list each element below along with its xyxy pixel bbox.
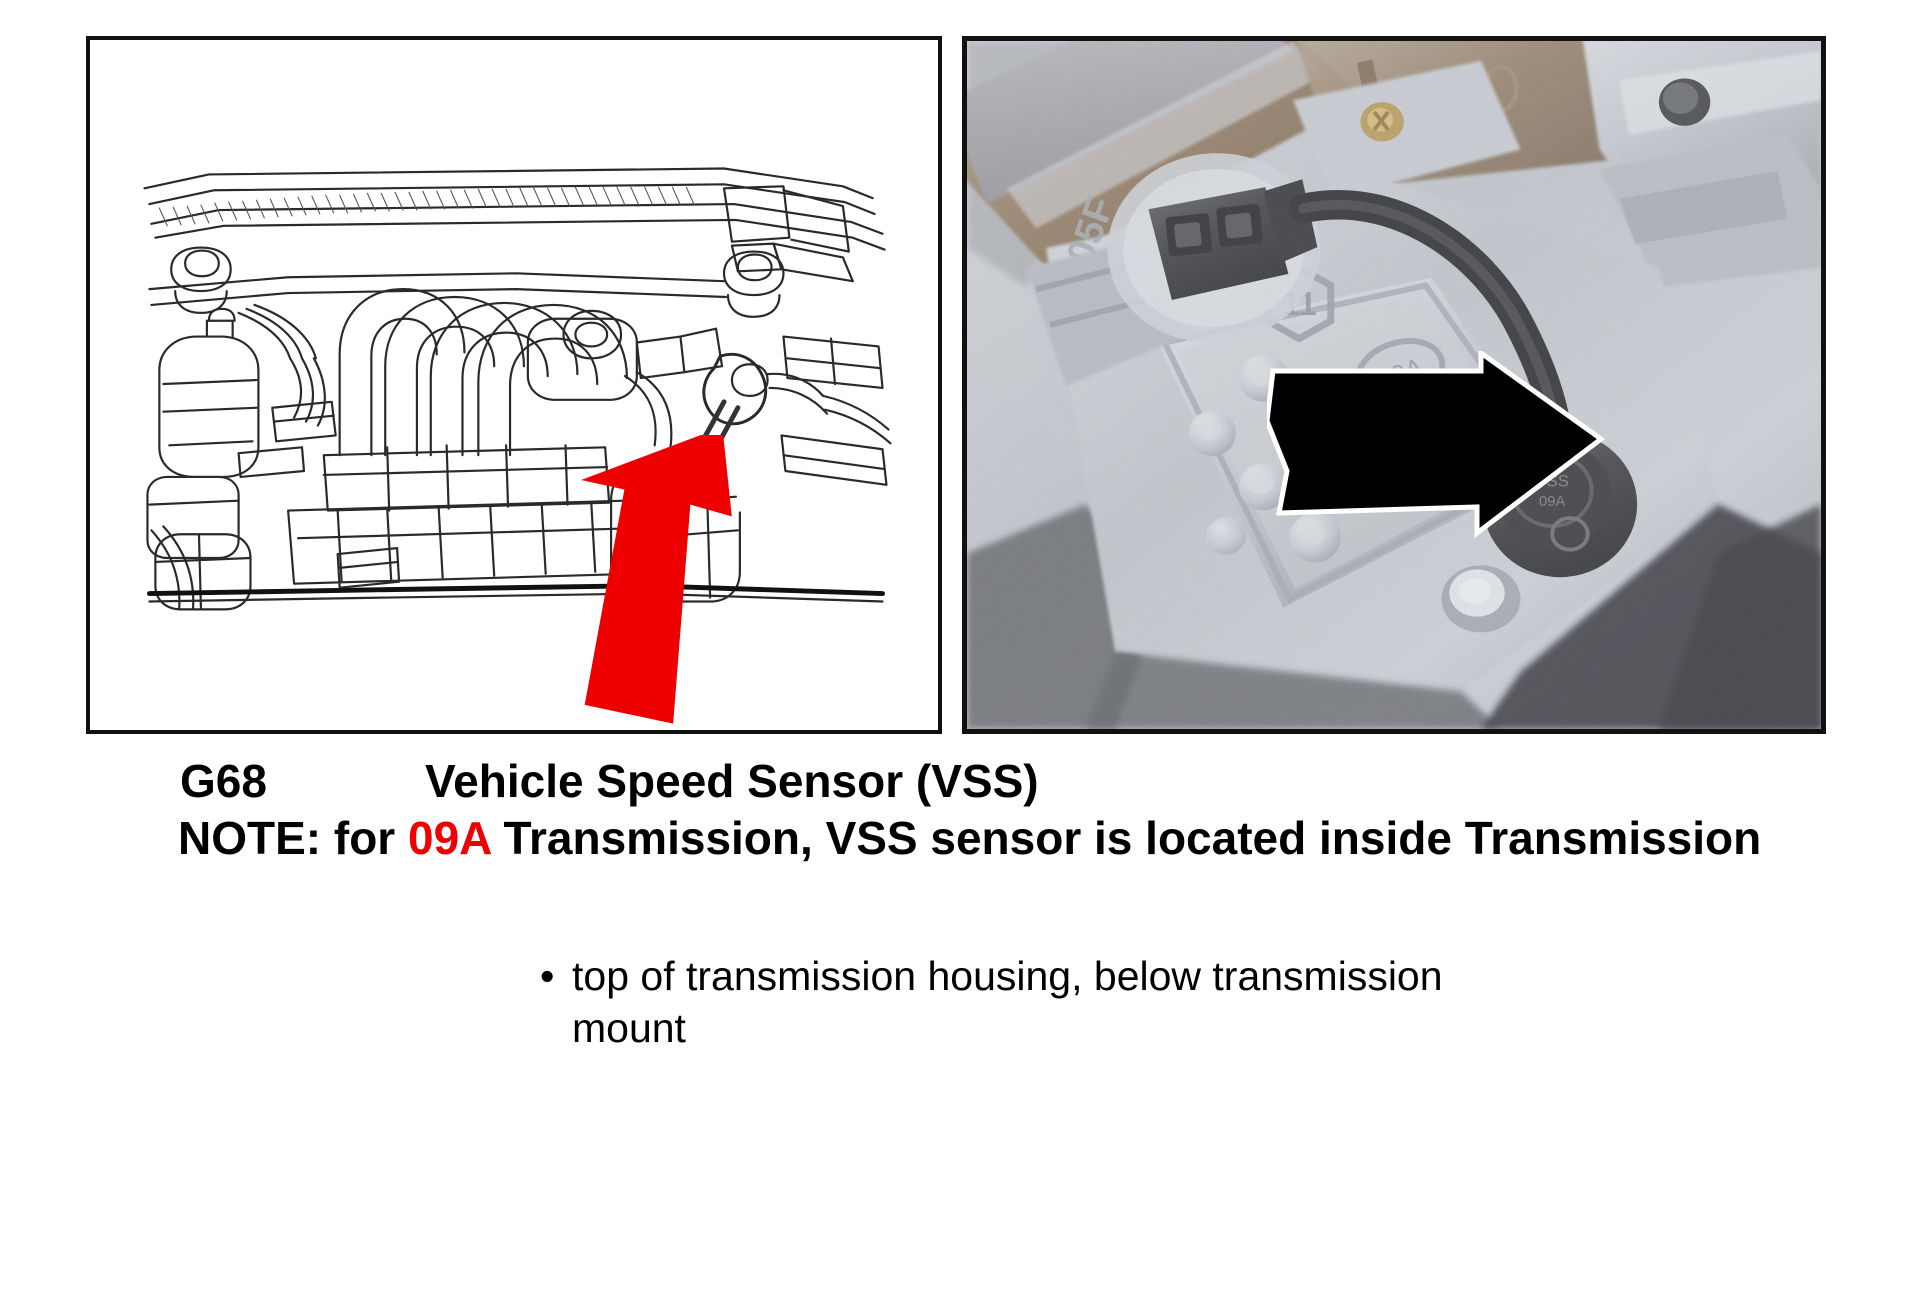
list-item-line-2-wrap: mount (540, 1002, 1600, 1054)
list-item-line-1: top of transmission housing, below trans… (572, 953, 1443, 999)
note-suffix: Transmission, VSS sensor is located insi… (491, 812, 1762, 864)
caption-line-note: NOTE: for 09A Transmission, VSS sensor i… (178, 809, 1761, 867)
engine-diagram-inner (90, 40, 938, 730)
figure-panel-transmission-photo: 11 09A 105F (962, 36, 1826, 734)
list-item: • top of transmission housing, below tra… (540, 950, 1600, 1002)
transmission-photo-inner: 11 09A 105F (967, 41, 1821, 729)
caption-line-title: G68Vehicle Speed Sensor (VSS) (180, 752, 1039, 810)
figure-panel-engine-diagram (86, 36, 942, 734)
note-highlight-transmission-code: 09A (408, 812, 491, 864)
component-code: G68 (180, 752, 425, 810)
note-prefix: NOTE: for (178, 812, 408, 864)
engine-bay-line-drawing (90, 40, 938, 730)
component-title: Vehicle Speed Sensor (VSS) (425, 755, 1039, 807)
bullet-dot-icon: • (540, 950, 554, 1002)
detail-bullet-list: • top of transmission housing, below tra… (540, 950, 1600, 1054)
list-item-line-2: mount (572, 1005, 686, 1051)
document-page: 11 09A 105F (0, 0, 1917, 1313)
transmission-photograph: 11 09A 105F (967, 41, 1821, 729)
